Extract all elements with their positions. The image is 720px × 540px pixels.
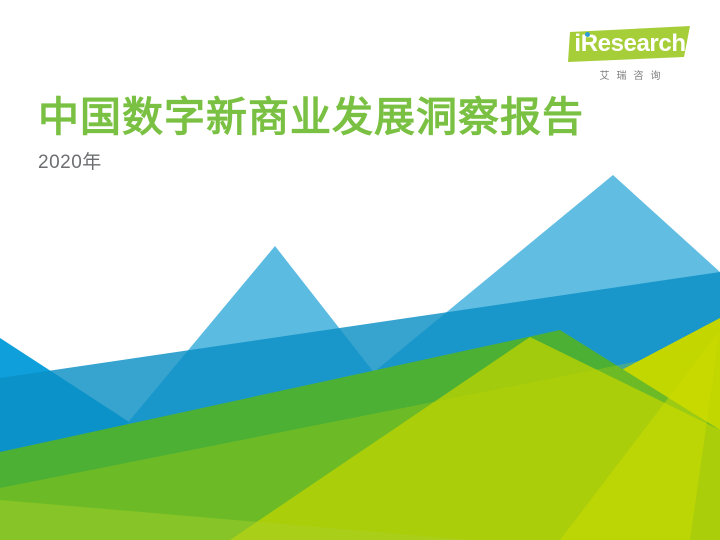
logo-i-dot-icon bbox=[585, 32, 590, 37]
cover-title-block: 中国数字新商业发展洞察报告 2020年 bbox=[38, 92, 584, 176]
report-cover-slide: iResearch 艾瑞咨询 中国数字新商业发展洞察报告 2020年 bbox=[0, 0, 720, 540]
logo-mark: iResearch bbox=[568, 26, 692, 62]
page-subtitle: 2020年 bbox=[38, 150, 584, 176]
logo-chinese-name: 艾瑞咨询 bbox=[568, 67, 692, 82]
logo-wordmark-text: Research bbox=[581, 30, 686, 57]
iresearch-logo: iResearch 艾瑞咨询 bbox=[568, 26, 692, 82]
page-title: 中国数字新商业发展洞察报告 bbox=[38, 92, 584, 142]
